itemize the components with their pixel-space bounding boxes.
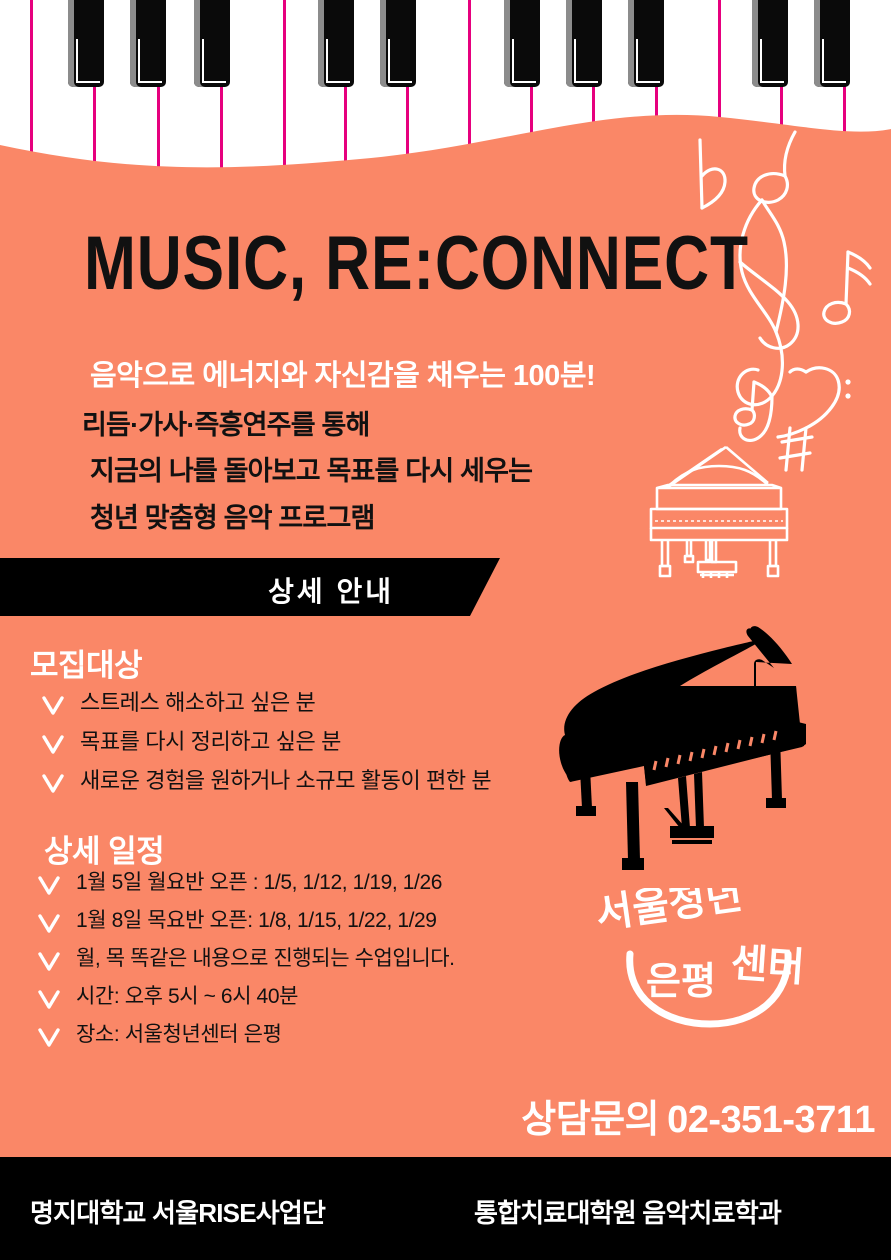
check-icon — [34, 910, 64, 938]
list-item-label: 목표를 다시 정리하고 싶은 분 — [80, 729, 341, 755]
list-item-label: 새로운 경험을 원하거나 소규모 활동이 편한 분 — [80, 768, 491, 794]
schedule-section-title: 상세 일정 — [44, 826, 164, 871]
list-item: 목표를 다시 정리하고 싶은 분 — [38, 729, 638, 757]
check-icon — [34, 948, 64, 976]
footer-bar: 명지대학교 서울RISE사업단 통합치료대학원 음악치료학과 — [0, 1157, 891, 1260]
footer-organizer-right: 통합치료대학원 음악치료학과 — [474, 1193, 781, 1230]
list-item-label: 월, 목 똑같은 내용으로 진행되는 수업입니다. — [76, 946, 455, 971]
check-icon — [38, 692, 68, 720]
list-item: 장소: 서울청년센터 은평 — [34, 1022, 634, 1050]
list-item-label: 1월 8일 목요반 오픈: 1/8, 1/15, 1/22, 1/29 — [76, 908, 437, 933]
list-item: 스트레스 해소하고 싶은 분 — [38, 690, 638, 718]
list-item: 새로운 경험을 원하거나 소규모 활동이 편한 분 — [38, 768, 638, 796]
page-title: MUSIC, RE:CONNECT — [84, 228, 749, 300]
check-icon — [38, 770, 68, 798]
check-icon — [34, 1024, 64, 1052]
list-item: 1월 5일 월요반 오픈 : 1/5, 1/12, 1/19, 1/26 — [34, 870, 634, 898]
list-item: 월, 목 똑같은 내용으로 진행되는 수업입니다. — [34, 946, 634, 974]
schedule-list: 1월 5일 월요반 오픈 : 1/5, 1/12, 1/19, 1/26 1월 … — [34, 870, 634, 1060]
banner-label: 상세 안내 — [268, 570, 394, 610]
banner-shape — [0, 558, 500, 616]
description-line-3: 청년 맞춤형 음악 프로그램 — [82, 495, 682, 541]
contact-phone: 02-351-3711 — [667, 1099, 875, 1142]
footer-organizer-left: 명지대학교 서울RISE사업단 — [30, 1193, 325, 1230]
list-item-label: 시간: 오후 5시 ~ 6시 40분 — [76, 984, 298, 1009]
svg-text:서울청년: 서울청년 — [593, 888, 745, 937]
seoul-youth-center-logo: 서울청년 센터 은평 서울청년센터 은평 — [592, 888, 852, 1028]
list-item-label: 장소: 서울청년센터 은평 — [76, 1022, 282, 1047]
list-item-label: 1월 5일 월요반 오픈 : 1/5, 1/12, 1/19, 1/26 — [76, 870, 442, 895]
contact-line: 상담문의 02-351-3711 — [521, 1088, 875, 1143]
contact-label: 상담문의 — [521, 1088, 659, 1143]
check-icon — [34, 986, 64, 1014]
check-icon — [34, 872, 64, 900]
description-block: 리듬·가사·즉흥연주를 통해 지금의 나를 돌아보고 목표를 다시 세우는 청년… — [82, 402, 682, 541]
list-item: 시간: 오후 5시 ~ 6시 40분 — [34, 984, 634, 1012]
svg-text:은평: 은평 — [646, 961, 716, 1003]
target-section-title: 모집대상 — [30, 640, 142, 685]
check-icon — [38, 731, 68, 759]
target-list: 스트레스 해소하고 싶은 분 목표를 다시 정리하고 싶은 분 새로운 경험을 … — [38, 690, 638, 807]
list-item-label: 스트레스 해소하고 싶은 분 — [80, 690, 315, 716]
poster-root: MUSIC, RE:CONNECT 음악으로 에너지와 자신감을 채우는 100… — [0, 0, 891, 1260]
tagline: 음악으로 에너지와 자신감을 채우는 100분! — [90, 352, 595, 394]
list-item: 1월 8일 목요반 오픈: 1/8, 1/15, 1/22, 1/29 — [34, 908, 634, 936]
detail-banner: 상세 안내 — [0, 558, 500, 616]
description-line-1: 리듬·가사·즉흥연주를 통해 — [82, 402, 682, 448]
svg-text:센터: 센터 — [729, 941, 805, 990]
description-line-2: 지금의 나를 돌아보고 목표를 다시 세우는 — [82, 448, 682, 494]
